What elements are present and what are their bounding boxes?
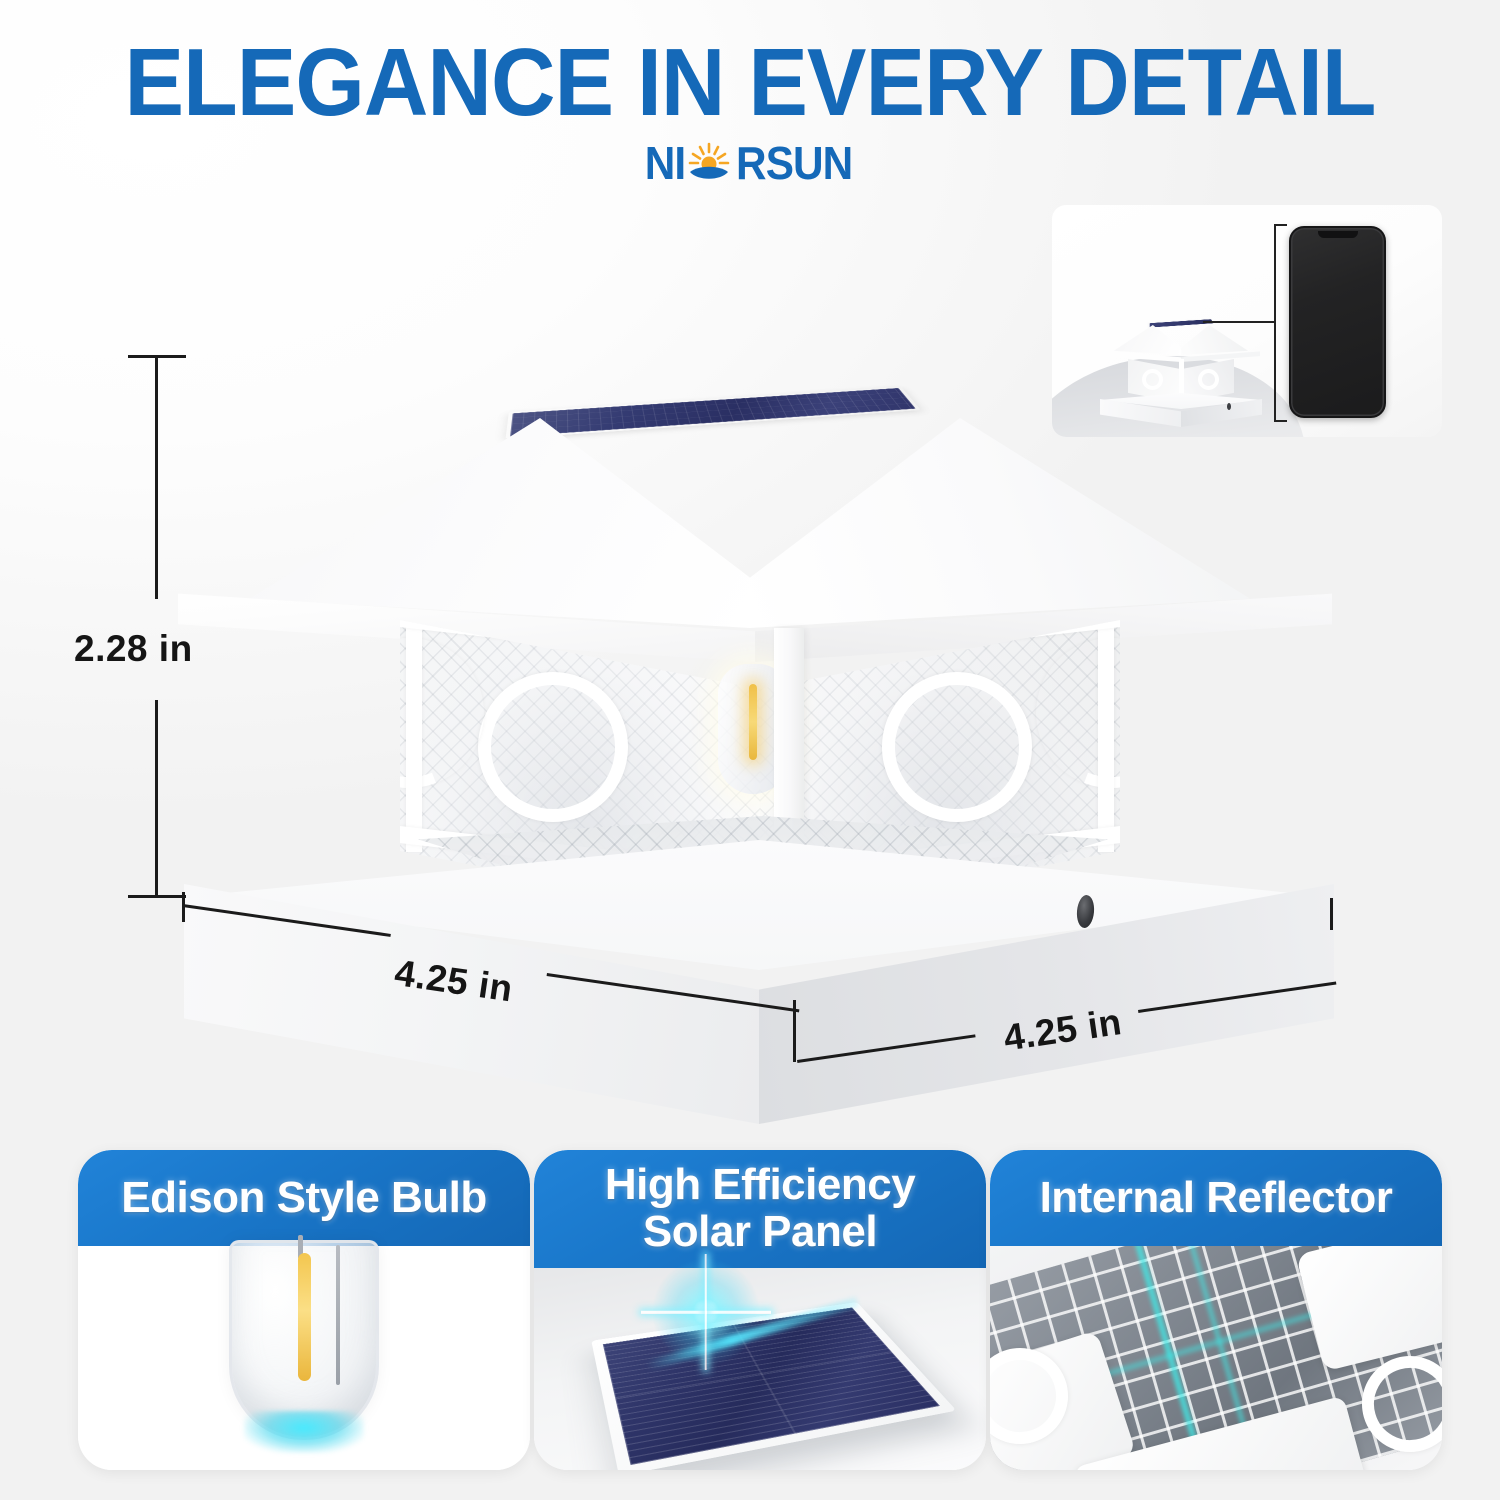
brand-logo: NI RSUN [0, 140, 1500, 196]
feature-card-image-edison-bulb [78, 1246, 530, 1470]
lattice-rib-left [406, 622, 422, 852]
bulb-support-wire [336, 1245, 340, 1385]
feature-card-image-internal-reflector [990, 1246, 1442, 1470]
feature-card-title-line-1: High Efficiency [605, 1162, 915, 1209]
product-image [150, 340, 1380, 1100]
brand-prefix-text: NI [645, 140, 685, 186]
solar-panel-photo [534, 1268, 986, 1470]
feature-card-title-edison-bulb: Edison Style Bulb [78, 1150, 530, 1246]
feature-card-internal-reflector[interactable]: Internal Reflector [990, 1150, 1442, 1470]
sunrise-logo-icon [688, 141, 730, 185]
infographic-page: ELEGANCE IN EVERY DETAIL NI [0, 0, 1500, 1500]
lattice-ring-left [478, 672, 628, 822]
size-leader-line [1203, 321, 1275, 323]
edison-bulb-photo [229, 1240, 379, 1440]
feature-card-image-solar-panel [534, 1268, 986, 1470]
feature-card-row: Edison Style Bulb High Efficiency Solar … [78, 1150, 1442, 1470]
internal-reflector-photo [990, 1246, 1442, 1470]
bulb-filament [749, 684, 757, 760]
feature-card-title-line-2: Solar Panel [605, 1209, 915, 1256]
sparkle-icon [648, 1254, 764, 1370]
bulb-cyan-glow [244, 1411, 364, 1453]
brand-suffix-text: RSUN [736, 140, 852, 186]
bulb-filament-strip [298, 1253, 311, 1381]
page-title: ELEGANCE IN EVERY DETAIL [53, 34, 1448, 132]
phone-notch-icon [1318, 231, 1358, 238]
feature-card-edison-bulb[interactable]: Edison Style Bulb [78, 1150, 530, 1470]
feature-card-title-solar-panel: High Efficiency Solar Panel [534, 1150, 986, 1268]
lattice-rib-right [1098, 622, 1114, 852]
feature-card-title-internal-reflector: Internal Reflector [990, 1150, 1442, 1246]
lattice-ring-right [882, 672, 1032, 822]
feature-card-solar-panel[interactable]: High Efficiency Solar Panel [534, 1150, 986, 1470]
